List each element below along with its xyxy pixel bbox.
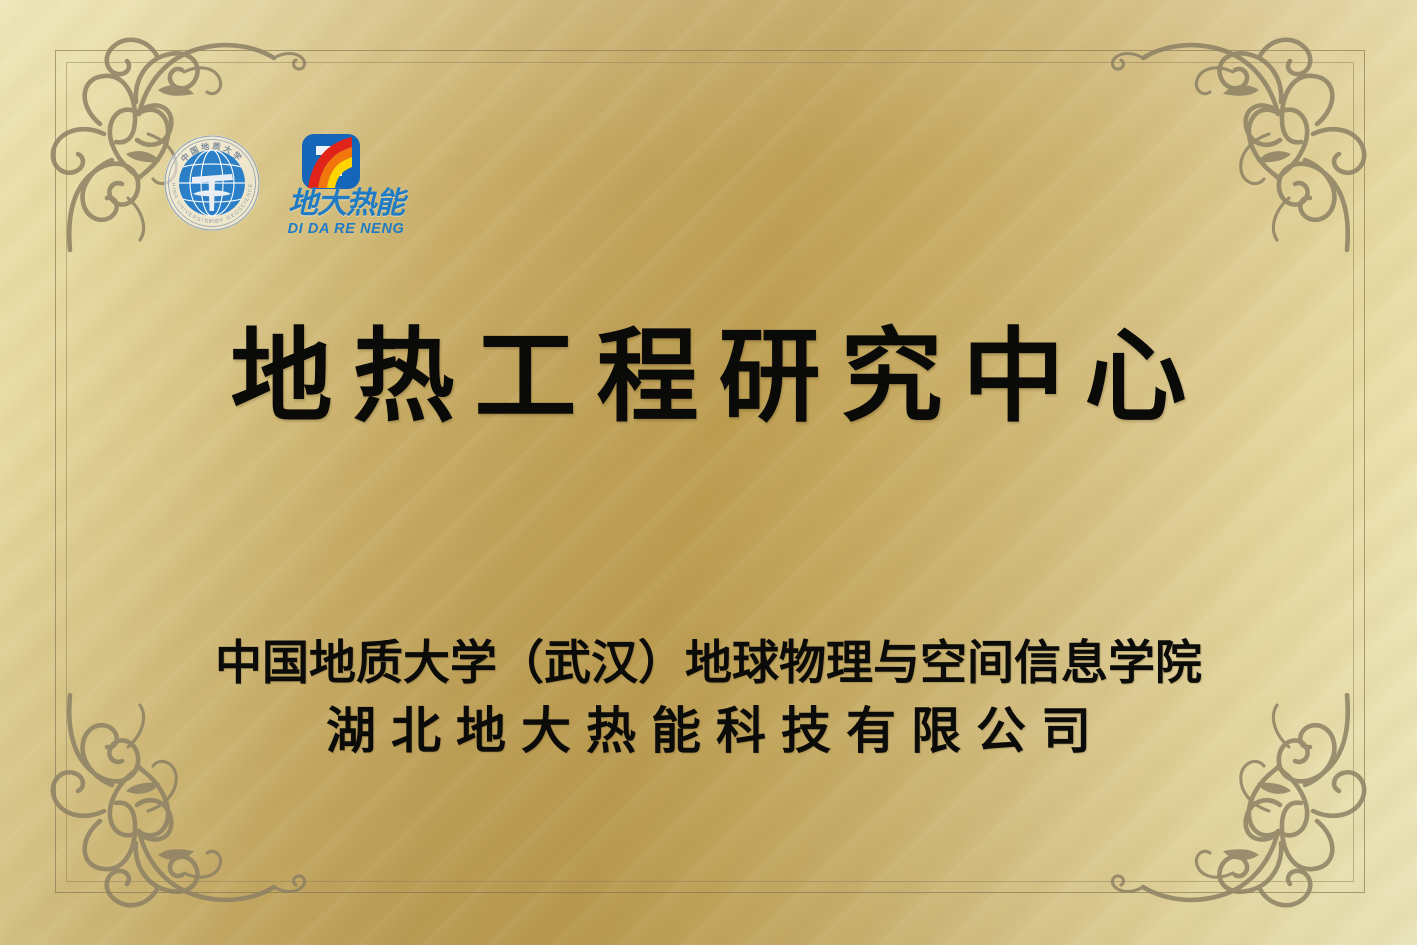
logo-row: 中国地质大学 CHINA UNIVERSITY OF GEOSCIENCES 1…	[162, 133, 412, 241]
company-logo: 地大热能 DI DA RE NENG	[280, 133, 412, 241]
subtitle-line-company: 湖北地大热能科技有限公司	[0, 702, 1417, 761]
ornament-top-right-icon	[1109, 2, 1409, 252]
company-mark-icon	[300, 133, 364, 193]
university-seal-icon: 中国地质大学 CHINA UNIVERSITY OF GEOSCIENCES 1…	[162, 133, 262, 233]
subtitle-line-university: 中国地质大学（武汉）地球物理与空间信息学院	[0, 636, 1417, 691]
award-plaque: 中国地质大学 CHINA UNIVERSITY OF GEOSCIENCES 1…	[0, 0, 1417, 945]
company-name-en: DI DA RE NENG	[280, 221, 412, 237]
page-title: 地热工程研究中心	[0, 325, 1417, 431]
company-name-cn: 地大热能	[280, 189, 412, 219]
svg-text:1952: 1952	[206, 219, 219, 224]
